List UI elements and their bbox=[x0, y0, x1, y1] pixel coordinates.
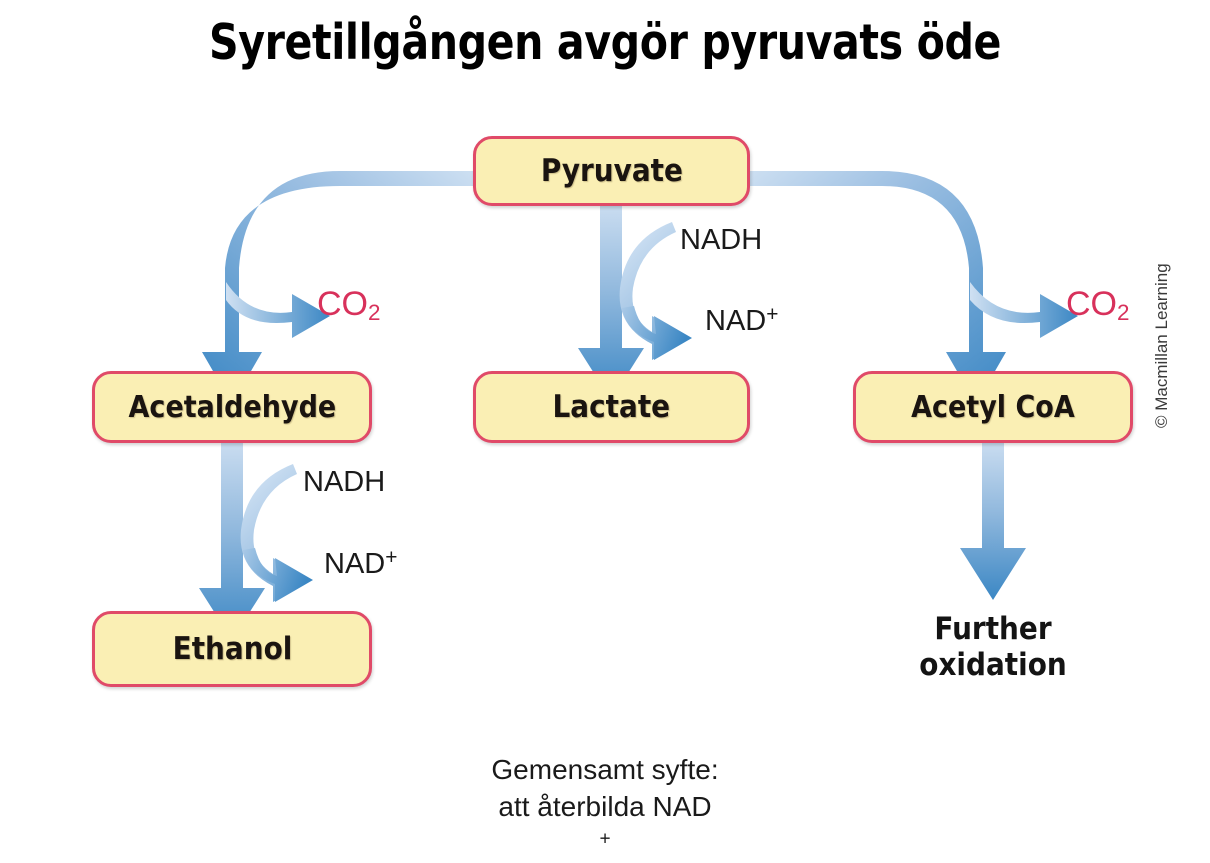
node-lactate-label: Lactate bbox=[553, 389, 671, 425]
node-pyruvate-label: Pyruvate bbox=[540, 153, 682, 189]
label-co2-left-text: CO bbox=[317, 285, 368, 323]
caption: Gemensamt syfte: att återbilda NAD+ bbox=[0, 752, 1210, 863]
label-nad-plus-middle-text: NAD bbox=[705, 305, 766, 337]
label-further-oxidation-line2: oxidation bbox=[867, 648, 1119, 684]
label-nad-plus-left: NAD+ bbox=[324, 546, 397, 581]
label-co2-right-text: CO bbox=[1066, 285, 1117, 323]
node-acetyl-coa[interactable]: Acetyl CoA bbox=[853, 371, 1133, 443]
node-acetyl-coa-label: Acetyl CoA bbox=[911, 390, 1075, 425]
label-nad-plus-middle-sup: + bbox=[766, 303, 778, 326]
label-nad-plus-middle: NAD+ bbox=[705, 303, 778, 338]
label-nadh-left: NADH bbox=[303, 466, 385, 499]
caption-line-2: att återbilda NAD+ bbox=[0, 789, 1210, 863]
caption-line-2-sup: + bbox=[599, 828, 610, 849]
arrow-acetylcoa-to-further-oxidation bbox=[960, 443, 1026, 600]
label-nadh-middle: NADH bbox=[680, 224, 762, 257]
label-nad-plus-left-text: NAD bbox=[324, 548, 385, 580]
node-acetaldehyde-label: Acetaldehyde bbox=[128, 390, 336, 425]
copyright-notice: © Macmillan Learning bbox=[1152, 263, 1172, 428]
arrow-co2-left bbox=[226, 282, 330, 338]
node-acetaldehyde[interactable]: Acetaldehyde bbox=[92, 371, 372, 443]
label-co2-right-subscript: 2 bbox=[1117, 300, 1129, 325]
label-co2-left: CO2 bbox=[317, 285, 380, 326]
caption-line-2-text: att återbilda NAD bbox=[0, 789, 1210, 826]
caption-line-1: Gemensamt syfte: bbox=[0, 752, 1210, 789]
node-ethanol-label: Ethanol bbox=[172, 631, 292, 667]
label-co2-right: CO2 bbox=[1066, 285, 1129, 326]
node-pyruvate[interactable]: Pyruvate bbox=[473, 136, 750, 206]
arrow-co2-right bbox=[970, 282, 1078, 338]
label-further-oxidation-line1: Further bbox=[867, 612, 1119, 648]
node-lactate[interactable]: Lactate bbox=[473, 371, 750, 443]
label-nad-plus-left-sup: + bbox=[385, 546, 397, 569]
arrow-pyruvate-to-acetylcoa bbox=[723, 171, 1006, 404]
label-further-oxidation: Further oxidation bbox=[853, 612, 1133, 684]
label-co2-left-subscript: 2 bbox=[368, 300, 380, 325]
node-ethanol[interactable]: Ethanol bbox=[92, 611, 372, 687]
diagram-canvas: Syretillgången avgör pyruvats öde bbox=[0, 0, 1210, 842]
